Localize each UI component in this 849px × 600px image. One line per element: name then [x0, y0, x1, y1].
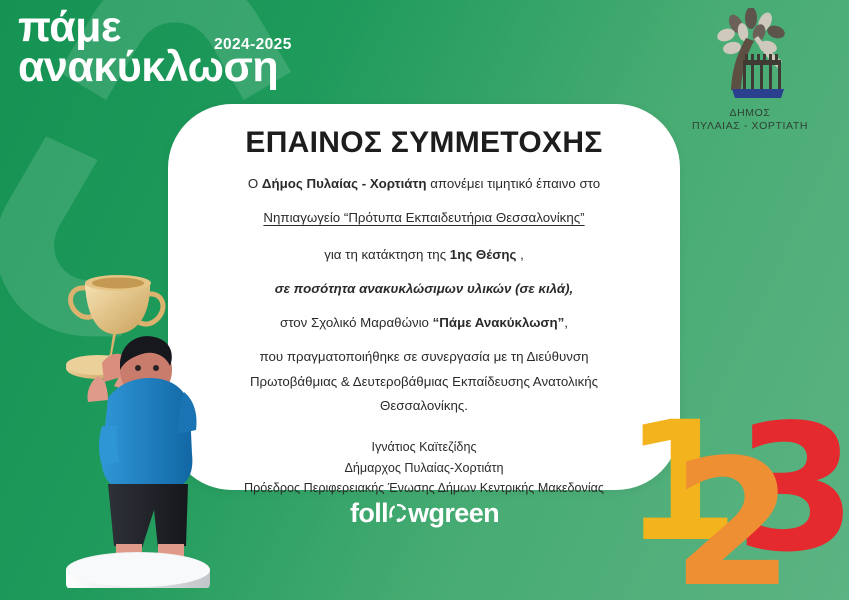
followgreen-text-pre: foll — [350, 498, 388, 528]
followgreen-logo: follwgreen — [0, 498, 849, 531]
followgreen-text-post: wgreen — [408, 498, 499, 528]
municipality-name-line-1: ΔΗΜΟΣ — [675, 107, 825, 120]
school-year-label: 2024-2025 — [214, 36, 292, 54]
certificate-page: πάμε ανακύκλωση 2024-2025 — [0, 0, 849, 600]
intro-municipality-bold: Δήμος Πυλαίας - Χορτιάτη — [262, 176, 427, 191]
municipality-name-line-2: ΠΥΛΑΙΑΣ - ΧΟΡΤΙΑΤΗ — [675, 120, 825, 133]
municipality-logo: ΔΗΜΟΣ ΠΥΛΑΙΑΣ - ΧΟΡΤΙΑΤΗ — [675, 8, 825, 133]
intro-text-part-1: Ο — [248, 176, 262, 191]
tree-over-arches-icon — [696, 8, 804, 104]
signatory-role-2: Πρόεδρος Περιφερειακής Ένωσης Δήμων Κεντ… — [194, 478, 654, 498]
kid-with-trophy-illustration — [38, 258, 228, 588]
event-text-part-2: , — [564, 315, 568, 330]
certificate-intro-line: Ο Δήμος Πυλαίας - Χορτιάτη απονέμει τιμη… — [194, 174, 654, 193]
certificate-title: ΕΠΑΙΝΟΣ ΣΥΜΜΕΤΟΧΗΣ — [194, 126, 654, 160]
collaboration-line-2: Πρωτοβάθμιας & Δευτεροβάθμιας Εκπαίδευση… — [194, 372, 654, 391]
event-name-bold: “Πάμε Ανακύκλωση” — [433, 315, 565, 330]
signature-block: Ιγνάτιος Καϊτεζίδης Δήμαρχος Πυλαίας-Χορ… — [194, 437, 654, 498]
signatory-role-1: Δήμαρχος Πυλαίας-Χορτιάτη — [194, 458, 654, 478]
recycling-circle-icon — [387, 500, 409, 531]
event-text-part-1: στον Σχολικό Μαραθώνιο — [280, 315, 433, 330]
collaboration-line-3: Θεσσαλονίκης. — [194, 396, 654, 415]
collaboration-line-1: που πραγματοποιήθηκε σε συνεργασία με τη… — [194, 347, 654, 366]
quantity-line: σε ποσότητα ανακυκλώσιμων υλικών (σε κιλ… — [194, 279, 654, 298]
certificate-card: ΕΠΑΙΝΟΣ ΣΥΜΜΕΤΟΧΗΣ Ο Δήμος Πυλαίας - Χορ… — [168, 104, 680, 490]
event-line: στον Σχολικό Μαραθώνιο “Πάμε Ανακύκλωση”… — [194, 313, 654, 332]
achievement-rank-bold: 1ης Θέσης — [450, 247, 517, 262]
recipient-school-name: Νηπιαγωγείο “Πρότυπα Εκπαιδευτήρια Θεσσα… — [194, 208, 654, 227]
municipality-name: ΔΗΜΟΣ ΠΥΛΑΙΑΣ - ΧΟΡΤΙΑΤΗ — [675, 107, 825, 133]
achievement-text-part-2: , — [516, 247, 523, 262]
achievement-text-part-1: για τη κατάκτηση της — [324, 247, 450, 262]
signatory-name: Ιγνάτιος Καϊτεζίδης — [194, 437, 654, 457]
intro-text-part-2: απονέμει τιμητικό έπαινο στο — [427, 176, 601, 191]
achievement-line: για τη κατάκτηση της 1ης Θέσης , — [194, 245, 654, 264]
